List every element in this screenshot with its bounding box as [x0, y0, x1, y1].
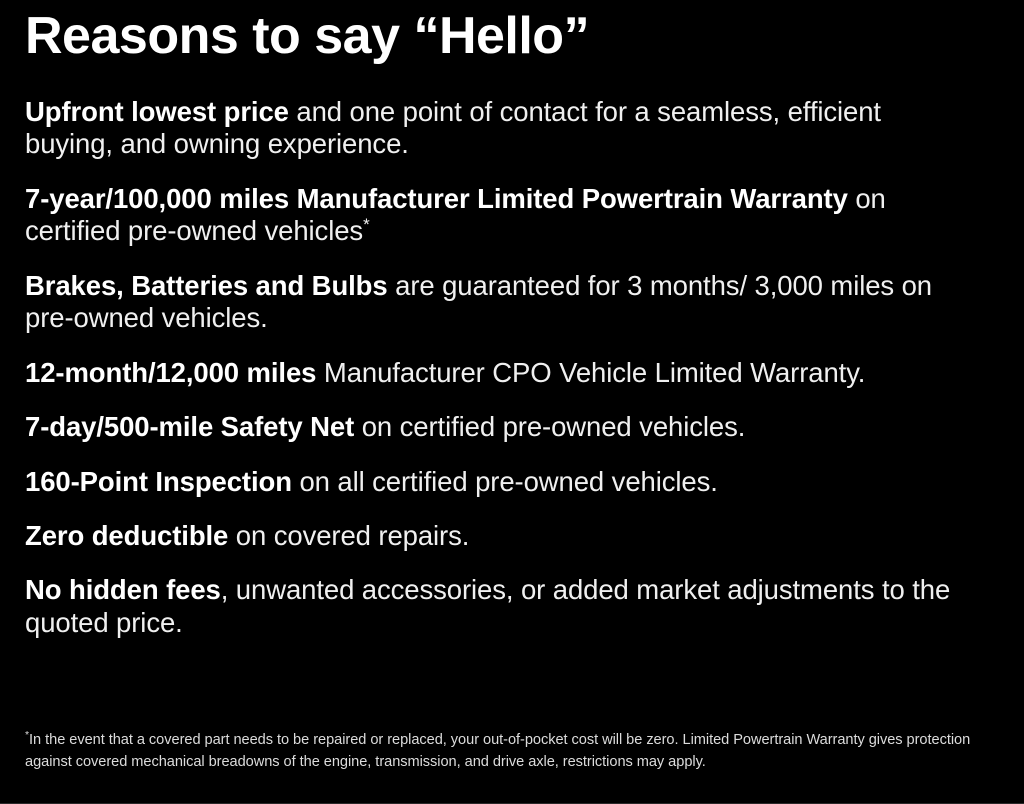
benefit-item-rest: on covered repairs.	[228, 520, 469, 551]
footnote-text: In the event that a covered part needs t…	[25, 732, 970, 770]
benefit-item: Zero deductible on covered repairs.	[25, 520, 970, 552]
benefit-item-lead: Zero deductible	[25, 520, 228, 551]
benefit-item: 7-year/100,000 miles Manufacturer Limite…	[25, 183, 970, 248]
benefit-item-lead: 7-day/500-mile Safety Net	[25, 411, 354, 442]
benefit-item: 12-month/12,000 miles Manufacturer CPO V…	[25, 357, 970, 389]
benefits-list: Upfront lowest price and one point of co…	[25, 96, 985, 639]
benefit-item: 7-day/500-mile Safety Net on certified p…	[25, 411, 970, 443]
benefit-item-lead: Upfront lowest price	[25, 96, 289, 127]
benefit-item-rest: Manufacturer CPO Vehicle Limited Warrant…	[316, 357, 865, 388]
slide-canvas: Reasons to say “Hello” Upfront lowest pr…	[0, 0, 1024, 804]
benefit-item-lead: No hidden fees	[25, 574, 221, 605]
benefit-item-lead: 160-Point Inspection	[25, 466, 292, 497]
benefit-item: Brakes, Batteries and Bulbs are guarante…	[25, 270, 970, 335]
benefit-item: No hidden fees, unwanted accessories, or…	[25, 574, 970, 639]
footnote-disclaimer: *In the event that a covered part needs …	[25, 730, 990, 774]
page-title: Reasons to say “Hello”	[25, 8, 589, 64]
benefit-item: 160-Point Inspection on all certified pr…	[25, 466, 970, 498]
benefit-item: Upfront lowest price and one point of co…	[25, 96, 970, 161]
benefit-item-rest: on certified pre-owned vehicles.	[354, 411, 745, 442]
benefit-item-lead: 7-year/100,000 miles Manufacturer Limite…	[25, 183, 848, 214]
benefit-item-lead: 12-month/12,000 miles	[25, 357, 316, 388]
benefit-item-rest: on all certified pre-owned vehicles.	[292, 466, 718, 497]
footnote-marker-icon: *	[363, 215, 370, 234]
benefit-item-lead: Brakes, Batteries and Bulbs	[25, 270, 388, 301]
